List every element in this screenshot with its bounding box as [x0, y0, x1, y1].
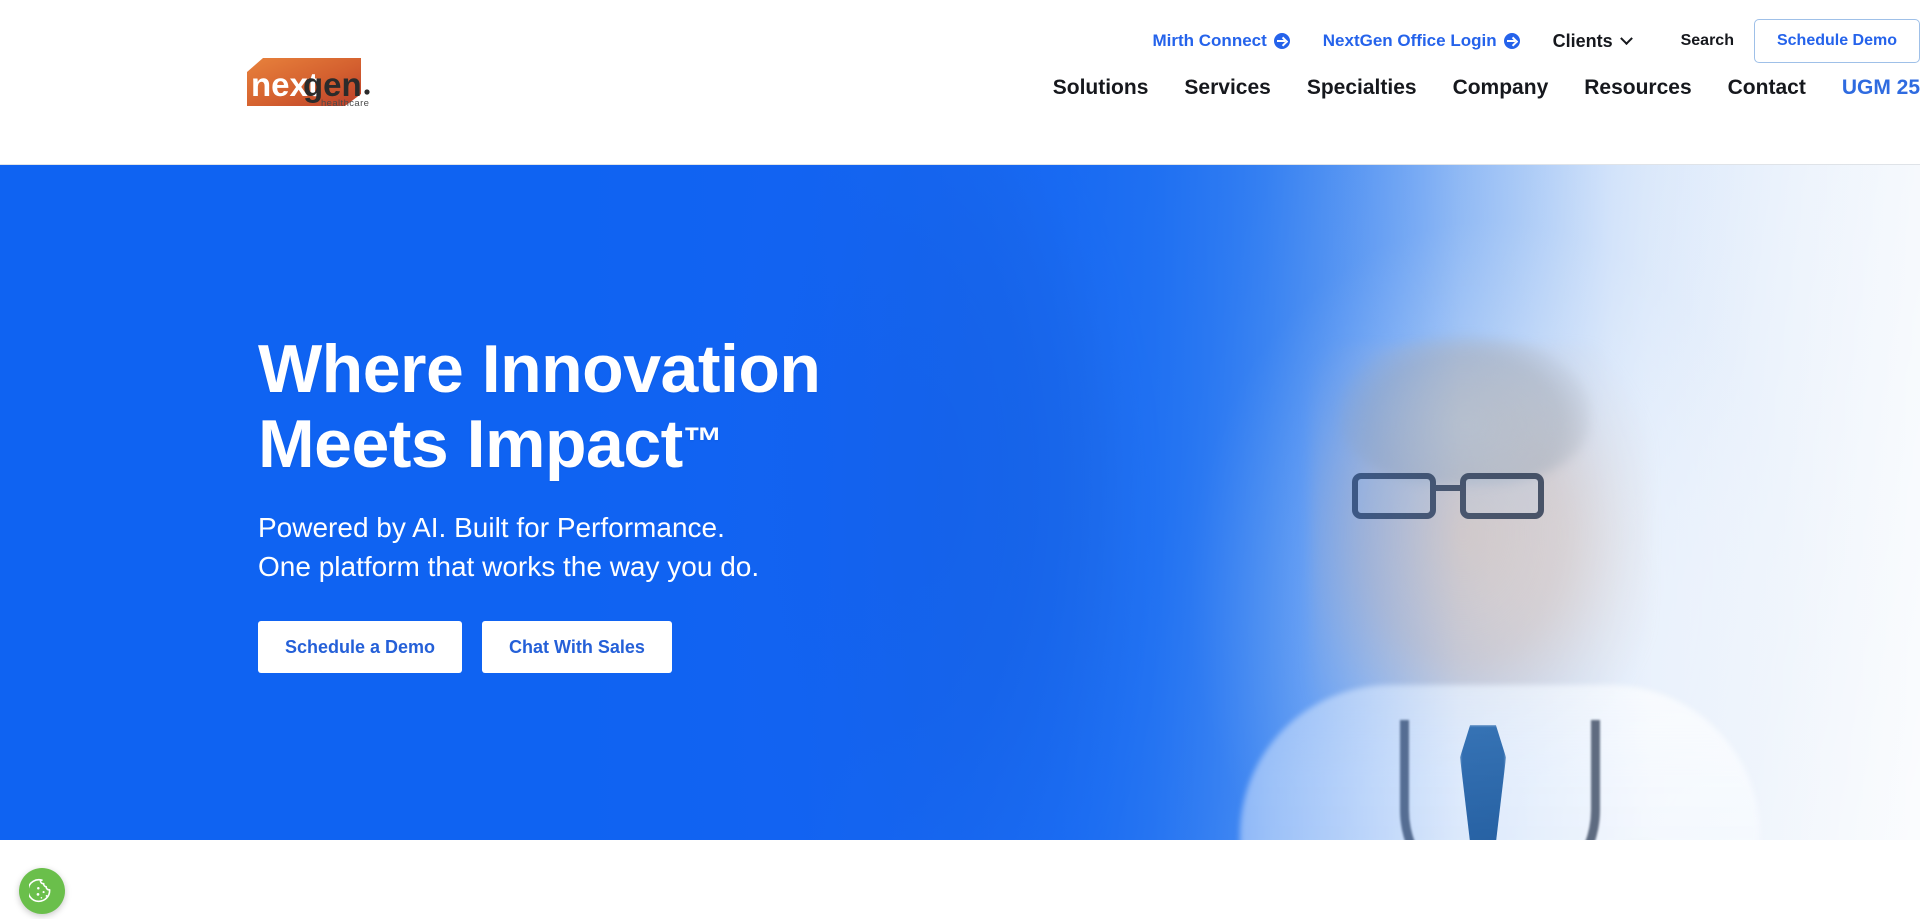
chat-with-sales-button[interactable]: Chat With Sales	[482, 621, 672, 673]
utility-link-mirth-connect[interactable]: Mirth Connect	[1153, 31, 1290, 51]
trademark-symbol: ™	[683, 420, 723, 464]
hero-subtitle: Powered by AI. Built for Performance. On…	[258, 508, 1018, 588]
search-link[interactable]: Search	[1681, 32, 1734, 50]
arrow-circle-right-icon	[1504, 33, 1520, 49]
arrow-circle-right-icon	[1274, 33, 1290, 49]
clients-dropdown-label: Clients	[1553, 31, 1613, 52]
hero-title-line-1: Where Innovation	[258, 331, 820, 407]
nav-item-contact[interactable]: Contact	[1728, 76, 1806, 100]
utility-link-label: NextGen Office Login	[1323, 31, 1497, 51]
hero-cta-group: Schedule a Demo Chat With Sales	[258, 621, 1018, 673]
nav-item-ugm-25[interactable]: UGM 25	[1842, 76, 1920, 100]
utility-link-label: Mirth Connect	[1153, 31, 1267, 51]
hero-title: Where Innovation Meets Impact™	[258, 332, 1018, 482]
page-body-below-hero	[0, 840, 1920, 919]
nav-item-company[interactable]: Company	[1453, 76, 1549, 100]
utility-link-nextgen-office-login[interactable]: NextGen Office Login	[1323, 31, 1520, 51]
nav-item-services[interactable]: Services	[1184, 76, 1270, 100]
nextgen-logo[interactable]: next gen healthcare	[245, 56, 385, 108]
nav-item-specialties[interactable]: Specialties	[1307, 76, 1417, 100]
site-header: next gen healthcare Mirth Connect NextGe…	[0, 0, 1920, 165]
clients-dropdown[interactable]: Clients	[1553, 31, 1631, 52]
schedule-demo-button[interactable]: Schedule Demo	[1754, 19, 1920, 63]
cookie-preferences-button[interactable]	[19, 868, 65, 914]
chevron-down-icon	[1620, 32, 1633, 45]
schedule-a-demo-button[interactable]: Schedule a Demo	[258, 621, 462, 673]
nextgen-logo-mark: next gen healthcare	[245, 56, 385, 108]
hero-banner: Where Innovation Meets Impact™ Powered b…	[0, 165, 1920, 840]
nav-item-solutions[interactable]: Solutions	[1053, 76, 1149, 100]
hero-subtitle-line-1: Powered by AI. Built for Performance.	[258, 512, 725, 543]
hero-subtitle-line-2: One platform that works the way you do.	[258, 551, 759, 582]
cookie-icon	[29, 878, 55, 904]
nav-item-resources[interactable]: Resources	[1584, 76, 1691, 100]
hero-title-line-2: Meets Impact	[258, 406, 683, 482]
hero-content: Where Innovation Meets Impact™ Powered b…	[258, 165, 1018, 840]
svg-text:healthcare: healthcare	[321, 98, 369, 108]
